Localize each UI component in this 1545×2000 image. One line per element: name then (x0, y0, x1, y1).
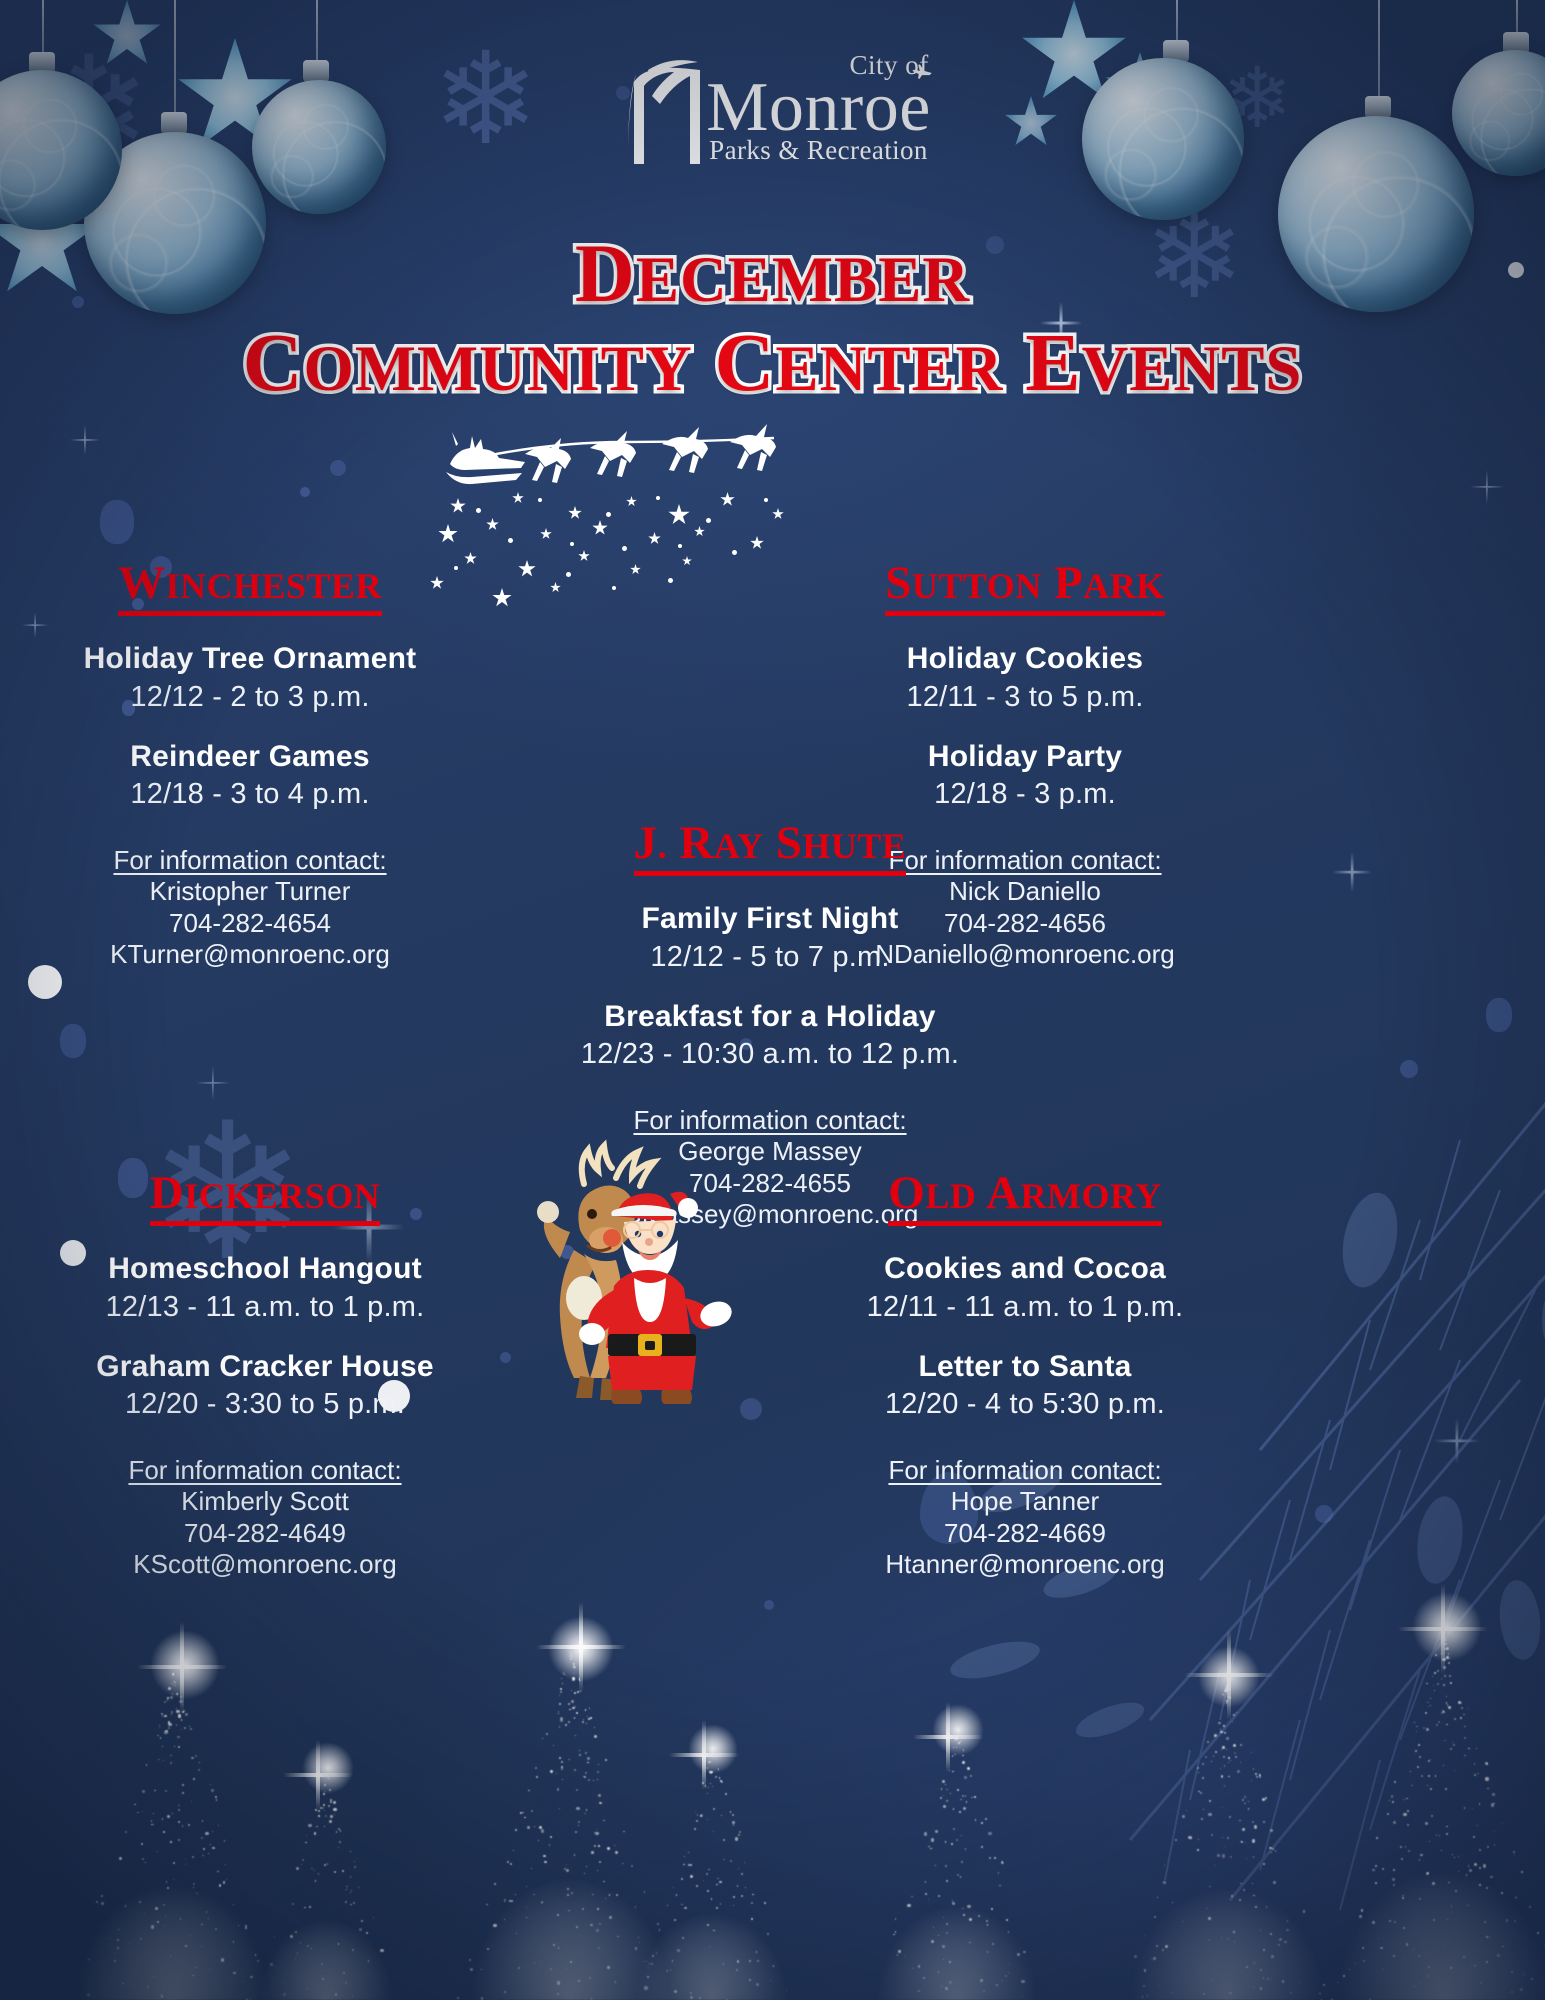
flyer-canvas: ❄ ❄ ❄ ❄ ❄ (0, 0, 1545, 2000)
vignette-overlay (0, 0, 1545, 2000)
